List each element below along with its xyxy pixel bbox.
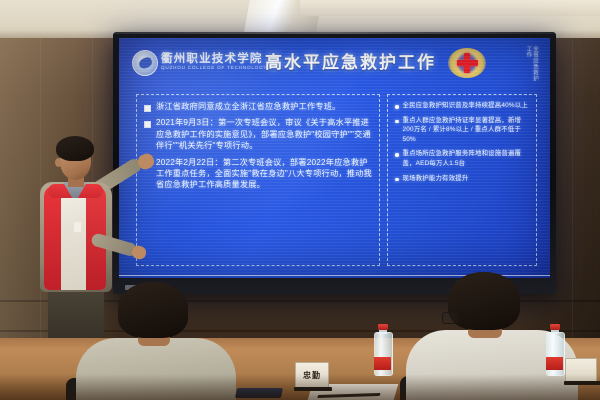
square-bullet-icon xyxy=(144,121,151,128)
school-name-english: QUZHOU COLLEGE OF TECHNOLOGY xyxy=(161,65,267,70)
list-item: 2022年2月22日：第二次专班会议，部署2022年应急救护工作重点任务，全面实… xyxy=(144,157,372,191)
slide-right-panel: 全民应急救护知识普及率持续提高40%以上 重点人群应急救护持证率显著提高，新增2… xyxy=(387,94,537,266)
dot-bullet-icon xyxy=(395,120,399,124)
square-bullet-icon xyxy=(144,105,151,112)
list-item: 重点场所应急救护服务阵地和设施普遍覆盖，AED每万人1.5台 xyxy=(395,149,529,168)
list-item: 全民应急救护知识普及率持续提高40%以上 xyxy=(395,101,529,111)
bezel-highlight xyxy=(113,32,556,34)
bullet-text: 浙江省政府同意成立全浙江省应急救护工作专班。 xyxy=(156,101,341,112)
bullet-text: 现场救护能力有效提升 xyxy=(403,174,469,184)
presenter-hair xyxy=(56,136,94,161)
bullet-text: 全民应急救护知识普及率持续提高40%以上 xyxy=(403,101,528,111)
bullet-text: 2021年9月3日：第一次专班会议，审议《关于高水平推进应急救护工作的实施意见》… xyxy=(156,117,372,151)
bottle-cap xyxy=(378,324,388,330)
conference-room-scene: 衢州职业技术学院 QUZHOU COLLEGE OF TECHNOLOGY 高水… xyxy=(0,0,600,400)
ceiling-beam-secondary xyxy=(300,0,600,16)
list-item: 现场救护能力有效提升 xyxy=(395,174,529,184)
red-cross-icon xyxy=(448,48,486,78)
dot-bullet-icon xyxy=(395,105,399,109)
presenter-badge xyxy=(74,222,81,232)
attendee-head xyxy=(448,272,520,330)
school-name: 衢州职业技术学院 xyxy=(161,50,263,66)
attendee-glasses xyxy=(442,312,458,324)
presenter-ear xyxy=(55,158,62,167)
water-bottle[interactable] xyxy=(546,324,563,376)
water-bottle[interactable] xyxy=(374,324,391,376)
slide-title: 高水平应急救护工作 xyxy=(265,48,436,73)
bullet-text: 重点人群应急救护持证率显著提高，新增200万名 / 累计8%以上 / 重点人群不… xyxy=(403,116,530,145)
presenter-vest-stripe-left xyxy=(44,186,61,290)
list-item: 浙江省政府同意成立全浙江省应急救护工作专班。 xyxy=(144,101,372,112)
dot-bullet-icon xyxy=(395,178,399,182)
slide-header: 衢州职业技术学院 QUZHOU COLLEGE OF TECHNOLOGY 高水… xyxy=(119,38,550,88)
dot-bullet-icon xyxy=(395,153,399,157)
slide-side-vertical-text: 全省应急救护工作 xyxy=(504,46,538,86)
presentation-screen[interactable]: 衢州职业技术学院 QUZHOU COLLEGE OF TECHNOLOGY 高水… xyxy=(119,38,550,278)
list-item: 2021年9月3日：第一次专班会议，审议《关于高水平推进应急救护工作的实施意见》… xyxy=(144,117,372,151)
slide-left-panel: 浙江省政府同意成立全浙江省应急救护工作专班。 2021年9月3日：第一次专班会议… xyxy=(136,94,380,266)
school-logo-icon xyxy=(132,50,158,76)
attendee-head xyxy=(118,282,188,338)
bullet-text: 2022年2月22日：第二次专班会议，部署2022年应急救护工作重点任务，全面实… xyxy=(156,157,372,191)
bottle-cap xyxy=(550,324,560,330)
list-item: 重点人群应急救护持证率显著提高，新增200万名 / 累计8%以上 / 重点人群不… xyxy=(395,116,529,145)
bullet-text: 重点场所应急救护服务阵地和设施普遍覆盖，AED每万人1.5台 xyxy=(403,149,530,168)
table-foreground-shadow xyxy=(0,374,600,400)
